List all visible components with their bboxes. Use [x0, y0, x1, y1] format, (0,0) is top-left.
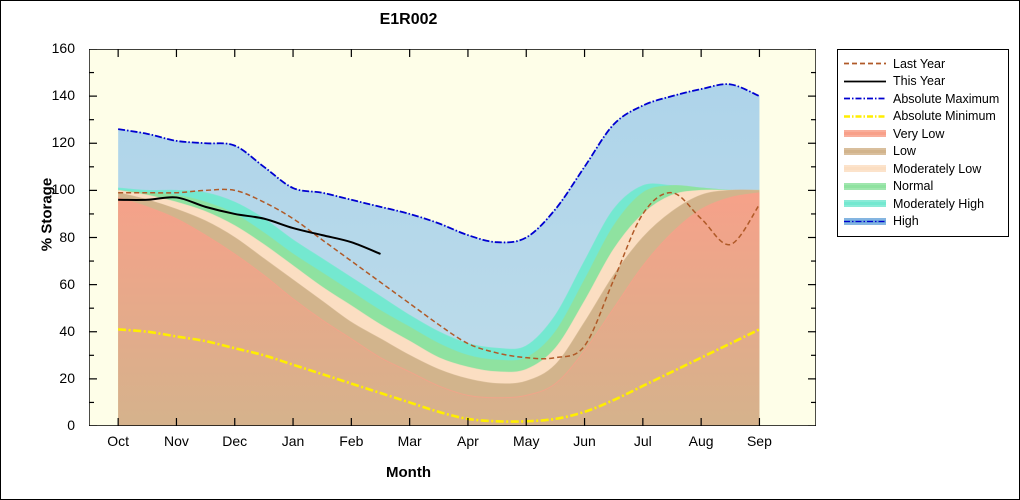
band-swatch-icon	[844, 180, 886, 193]
x-tick-label: Mar	[380, 433, 440, 449]
y-tick-label: 160	[19, 40, 75, 56]
chart-legend: Last YearThis YearAbsolute MaximumAbsolu…	[837, 49, 1009, 237]
dash-dot-line-icon	[844, 110, 886, 123]
chart-canvas	[89, 49, 816, 426]
legend-item[interactable]: Absolute Minimum	[844, 108, 1004, 126]
y-tick-label: 40	[19, 323, 75, 339]
x-axis-label: Month	[1, 464, 816, 481]
y-tick-label: 100	[19, 181, 75, 197]
legend-item-label: Very Low	[893, 127, 944, 141]
plot-area	[89, 49, 816, 426]
dashed-line-icon	[844, 57, 886, 70]
y-tick-label: 0	[19, 417, 75, 433]
y-tick-label: 60	[19, 276, 75, 292]
legend-item-label: Absolute Maximum	[893, 92, 999, 106]
x-tick-label: Feb	[321, 433, 381, 449]
legend-item[interactable]: Moderately Low	[844, 160, 1004, 178]
x-tick-label: Dec	[205, 433, 265, 449]
legend-item[interactable]: Moderately High	[844, 195, 1004, 213]
legend-item[interactable]: Last Year	[844, 55, 1004, 73]
legend-item[interactable]: Normal	[844, 178, 1004, 196]
band-swatch-icon	[844, 127, 886, 140]
chart-window: E1R002 % Storage Month 02040608010012014…	[0, 0, 1020, 500]
band-swatch-icon	[844, 145, 886, 158]
legend-item[interactable]: This Year	[844, 73, 1004, 91]
legend-item-label: Normal	[893, 179, 933, 193]
legend-item-label: Absolute Minimum	[893, 109, 996, 123]
y-tick-label: 20	[19, 370, 75, 386]
x-tick-label: Sep	[729, 433, 789, 449]
legend-item-label: Moderately High	[893, 197, 984, 211]
y-tick-label: 140	[19, 87, 75, 103]
band-swatch-icon	[844, 197, 886, 210]
legend-item-label: High	[893, 214, 919, 228]
x-tick-label: Jul	[613, 433, 673, 449]
x-tick-label: Nov	[146, 433, 206, 449]
legend-item[interactable]: Very Low	[844, 125, 1004, 143]
x-tick-label: May	[496, 433, 556, 449]
x-tick-label: Aug	[671, 433, 731, 449]
legend-item[interactable]: Low	[844, 143, 1004, 161]
dash-dot-line-icon	[844, 92, 886, 105]
legend-item[interactable]: Absolute Maximum	[844, 90, 1004, 108]
page-title: E1R002	[1, 11, 816, 29]
legend-item-label: Low	[893, 144, 916, 158]
legend-item-label: This Year	[893, 74, 945, 88]
legend-item-label: Moderately Low	[893, 162, 981, 176]
band-swatch-icon	[844, 215, 886, 228]
x-tick-label: Jan	[263, 433, 323, 449]
x-tick-label: Apr	[438, 433, 498, 449]
x-tick-label: Jun	[555, 433, 615, 449]
y-axis-label: % Storage	[39, 155, 56, 275]
x-tick-label: Oct	[88, 433, 148, 449]
legend-item[interactable]: High	[844, 213, 1004, 231]
legend-item-label: Last Year	[893, 57, 945, 71]
band-swatch-icon	[844, 162, 886, 175]
solid-line-icon	[844, 75, 886, 88]
y-tick-label: 120	[19, 134, 75, 150]
y-tick-label: 80	[19, 229, 75, 245]
